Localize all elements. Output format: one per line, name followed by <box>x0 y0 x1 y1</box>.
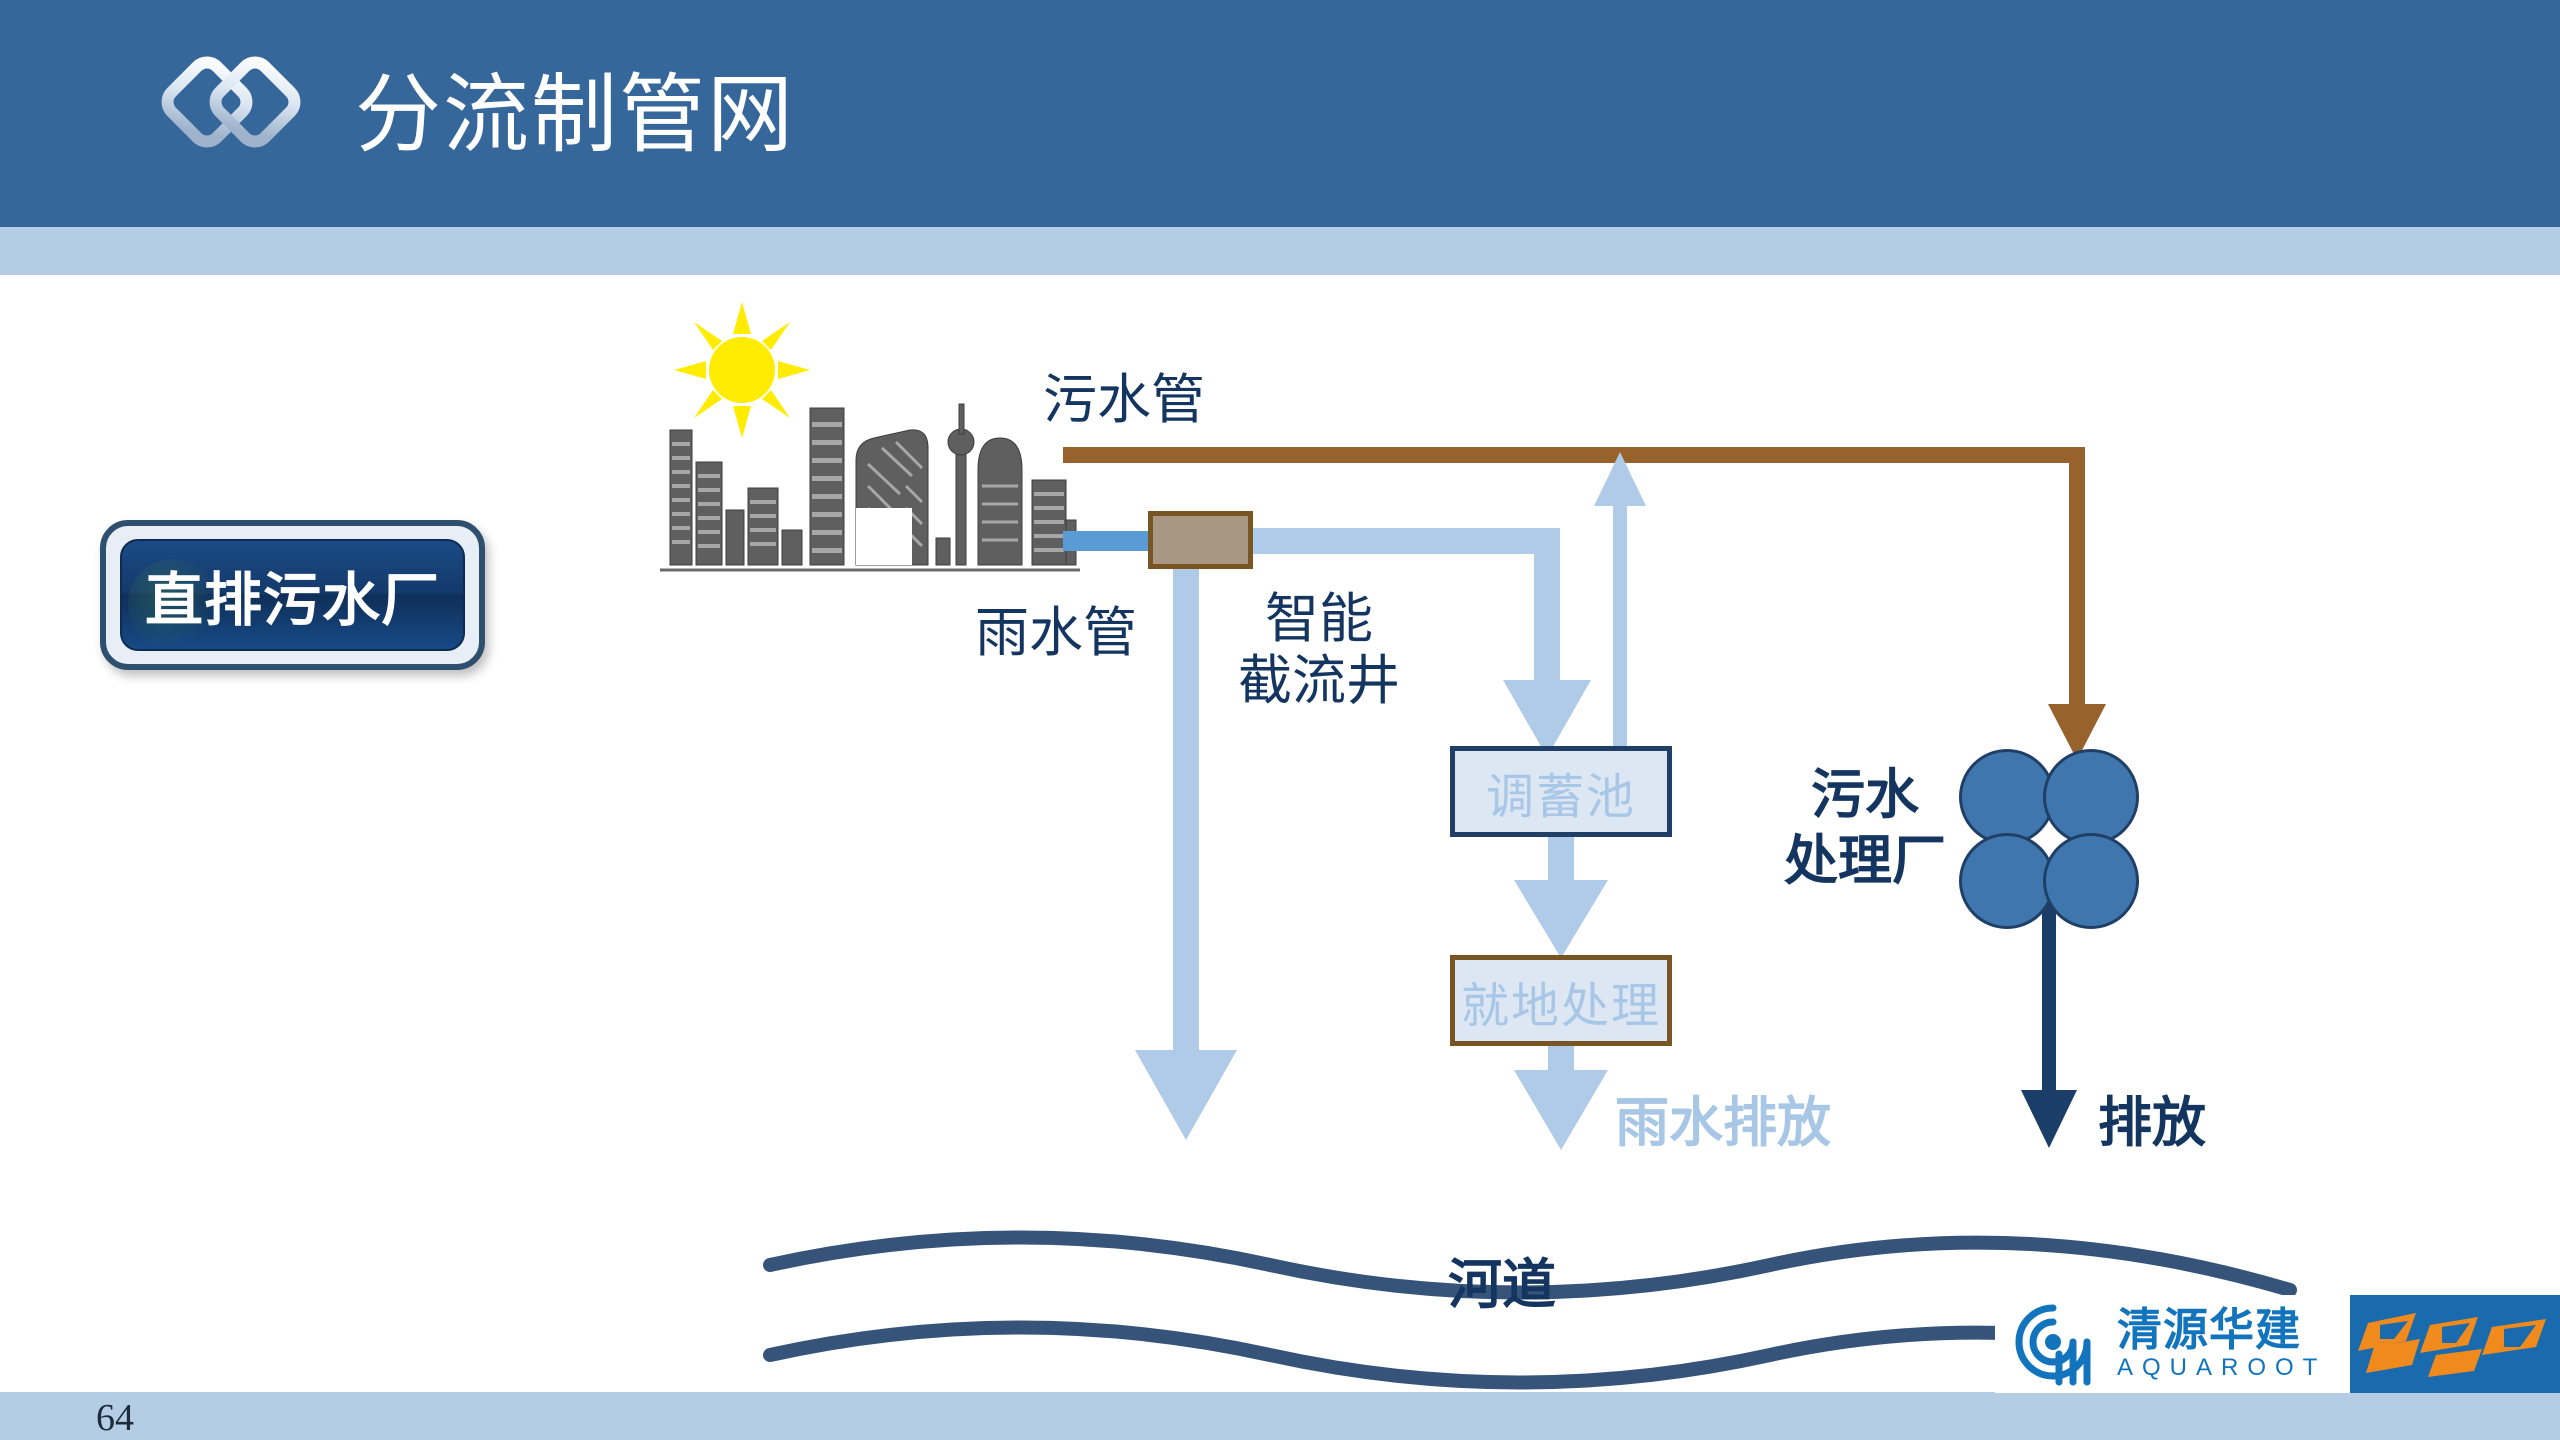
aquaroot-text: 清源华建 AQUAROOT <box>2117 1306 2326 1382</box>
node-storage-tank[interactable]: 调蓄池 <box>1450 746 1672 837</box>
pipe-network-diagram <box>0 0 2560 1440</box>
plant-tank-1 <box>1959 749 2055 845</box>
aquaroot-spiral-icon <box>1995 1298 2113 1390</box>
slide-canvas: 分流制管网 直排污水厂 <box>0 0 2560 1440</box>
aquaroot-cn-label: 清源华建 <box>2117 1306 2326 1354</box>
label-storm-pipe: 雨水管 <box>975 588 1137 667</box>
bgw-orange-logo-icon <box>2350 1295 2560 1393</box>
treatment-plant-circles-icon[interactable] <box>1959 749 2139 929</box>
label-sewage-pipe: 污水管 <box>1043 355 1205 434</box>
storm-pipe-stub <box>1063 531 1151 551</box>
plant-discharge-arrow <box>2021 900 2077 1148</box>
node-local-treatment-label: 就地处理 <box>1461 966 1661 1036</box>
footer-bar <box>0 1392 2560 1440</box>
label-treatment-plant-line2: 处理厂 <box>1784 828 1946 894</box>
smart-interception-well-box[interactable] <box>1148 511 1253 569</box>
badge-inner: 直排污水厂 <box>120 539 465 651</box>
label-treatment-plant-line1: 污水 <box>1784 762 1946 828</box>
storm-drop-to-river <box>1135 566 1237 1140</box>
local-to-river-arrow <box>1514 1046 1608 1150</box>
overflow-arrow-up <box>1594 452 1646 750</box>
label-smart-well-line1: 智能 <box>1238 588 1400 650</box>
label-smart-well-line2: 截流井 <box>1238 650 1400 712</box>
badge-label: 直排污水厂 <box>145 553 440 637</box>
label-treatment-plant: 污水 处理厂 <box>1784 762 1946 894</box>
aquaroot-en-label: AQUAROOT <box>2117 1354 2326 1382</box>
label-discharge: 排放 <box>2098 1078 2206 1157</box>
plant-tank-3 <box>1959 833 2055 929</box>
label-rain-discharge: 雨水排放 <box>1615 1078 1831 1157</box>
node-storage-tank-label: 调蓄池 <box>1486 757 1636 827</box>
page-number: 64 <box>96 1396 134 1440</box>
label-river: 河道 <box>1448 1240 1556 1319</box>
node-local-treatment[interactable]: 就地处理 <box>1450 955 1672 1046</box>
plant-tank-2 <box>2043 749 2139 845</box>
label-smart-well: 智能 截流井 <box>1238 588 1400 712</box>
sewage-pipe-brown <box>1063 455 2106 760</box>
plant-tank-4 <box>2043 833 2139 929</box>
bgw-logo <box>2350 1295 2560 1393</box>
storage-to-local-arrow <box>1514 837 1608 958</box>
